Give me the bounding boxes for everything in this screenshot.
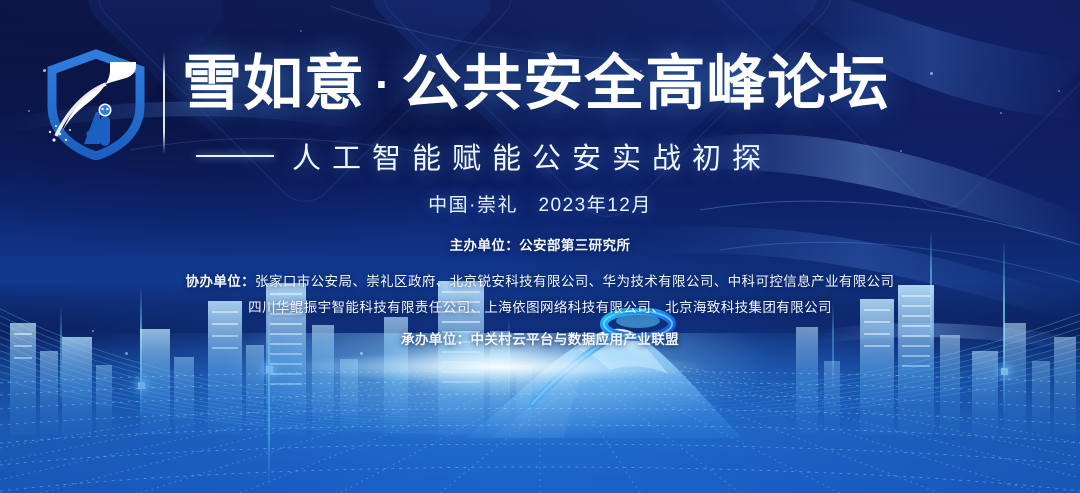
title-separator: · xyxy=(365,58,401,110)
host-line: 主办单位：公安部第三研究所 xyxy=(0,234,1080,257)
title-rest: 公共安全高峰论坛 xyxy=(401,50,889,117)
place-date: 中国·崇礼 2023年12月 xyxy=(0,190,1080,217)
shield-ai-skijump-logo xyxy=(40,48,152,160)
executor-line: 承办单位：中关村云平台与数据应用产业联盟 xyxy=(0,328,1080,351)
co-host-line-1: 协办单位：张家口市公安局、崇礼区政府、北京锐安科技有限公司、华为技术有限公司、中… xyxy=(0,270,1080,293)
co-host-line-2: 四川华鲲振宇智能科技有限责任公司、上海依图网络科技有限公司、北京海致科技集团有限… xyxy=(0,296,1080,319)
subtitle-row: 人工智能赋能公安实战初探 xyxy=(196,135,772,177)
executor-label: 承办单位： xyxy=(401,332,471,347)
logo-title-divider xyxy=(163,52,165,154)
subtitle-dash xyxy=(196,155,274,157)
co-host-value-1: 张家口市公安局、崇礼区政府、北京锐安科技有限公司、华为技术有限公司、中科可控信息… xyxy=(255,274,894,289)
perspective-light-grid xyxy=(0,343,1080,493)
page-title: 雪如意·公共安全高峰论坛 xyxy=(182,48,889,120)
co-host-value-2: 四川华鲲振宇智能科技有限责任公司、上海依图网络科技有限公司、北京海致科技集团有限… xyxy=(248,300,832,315)
co-host-label: 协办单位： xyxy=(186,274,256,289)
subtitle: 人工智能赋能公安实战初探 xyxy=(292,135,772,177)
executor-value: 中关村云平台与数据应用产业联盟 xyxy=(471,332,680,347)
host-label: 主办单位： xyxy=(450,238,520,253)
organizers-block: 主办单位：公安部第三研究所 协办单位：张家口市公安局、崇礼区政府、北京锐安科技有… xyxy=(0,234,1080,351)
poster-banner: 雪如意·公共安全高峰论坛 人工智能赋能公安实战初探 中国·崇礼 2023年12月… xyxy=(0,0,1080,493)
header: 雪如意·公共安全高峰论坛 人工智能赋能公安实战初探 中国·崇礼 2023年12月 xyxy=(0,0,1080,200)
title-main: 雪如意 xyxy=(182,50,365,117)
host-value: 公安部第三研究所 xyxy=(519,238,630,253)
